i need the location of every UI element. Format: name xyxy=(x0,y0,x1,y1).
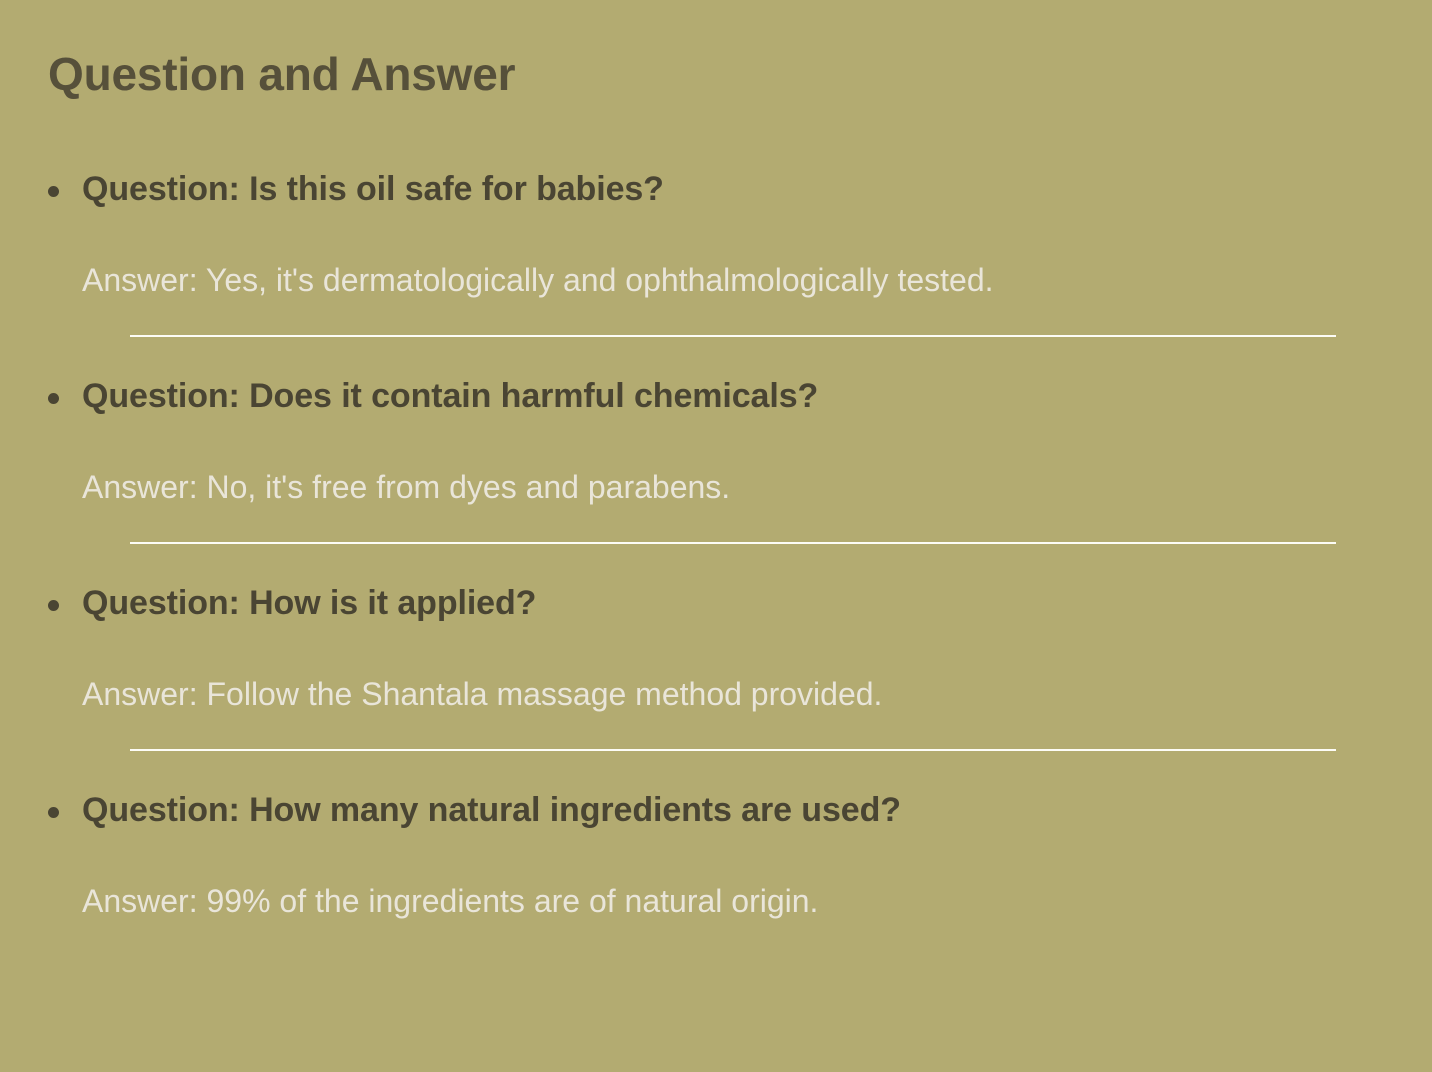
qa-question: Question: Is this oil safe for babies? xyxy=(82,168,1384,212)
qa-answer: Answer: 99% of the ingredients are of na… xyxy=(82,881,1384,923)
qa-item: Question: How many natural ingredients a… xyxy=(0,789,1432,922)
qa-list: Question: Is this oil safe for babies? A… xyxy=(0,168,1432,922)
bullet-icon xyxy=(48,807,59,818)
qa-item: Question: Is this oil safe for babies? A… xyxy=(0,168,1432,337)
page-title: Question and Answer xyxy=(48,48,515,101)
qa-item: Question: How is it applied? Answer: Fol… xyxy=(0,582,1432,751)
qa-question: Question: Does it contain harmful chemic… xyxy=(82,375,1384,419)
bullet-icon xyxy=(48,393,59,404)
qa-page: Question and Answer Question: Is this oi… xyxy=(0,0,1432,1072)
qa-answer: Answer: No, it's free from dyes and para… xyxy=(82,467,1384,509)
qa-question: Question: How is it applied? xyxy=(82,582,1384,626)
qa-item: Question: Does it contain harmful chemic… xyxy=(0,375,1432,544)
bullet-icon xyxy=(48,600,59,611)
bullet-icon xyxy=(48,186,59,197)
qa-divider xyxy=(130,749,1336,751)
qa-divider xyxy=(130,335,1336,337)
qa-answer: Answer: Follow the Shantala massage meth… xyxy=(82,674,1384,716)
qa-divider xyxy=(130,542,1336,544)
qa-question: Question: How many natural ingredients a… xyxy=(82,789,1384,833)
qa-answer: Answer: Yes, it's dermatologically and o… xyxy=(82,260,1384,302)
